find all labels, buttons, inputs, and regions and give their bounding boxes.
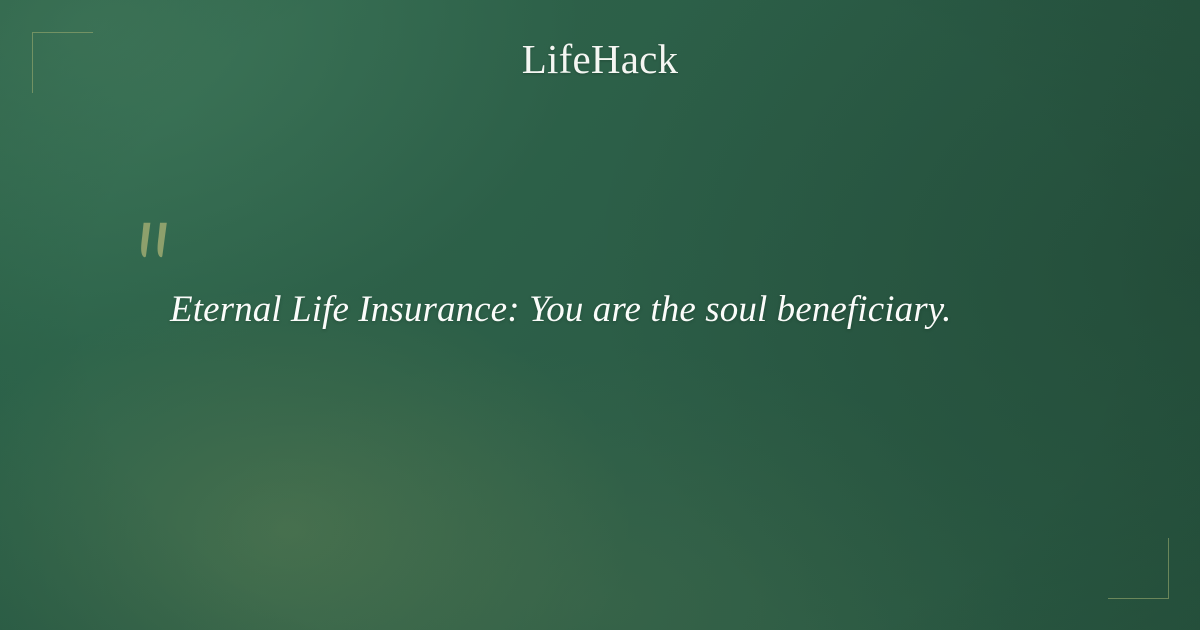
quote-block: Eternal Life Insurance: You are the soul… bbox=[135, 222, 1065, 335]
quote-text: Eternal Life Insurance: You are the soul… bbox=[135, 286, 1065, 335]
corner-bracket-bottom-right-icon bbox=[1108, 538, 1169, 599]
quote-card: LifeHack Eternal Life Insurance: You are… bbox=[0, 0, 1200, 630]
quote-mark-icon bbox=[135, 222, 179, 262]
brand-logo: LifeHack bbox=[0, 39, 1200, 80]
